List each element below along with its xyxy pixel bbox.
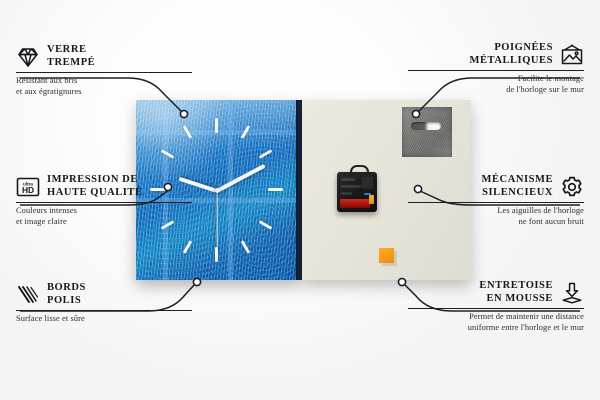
callout-subtitle: Facilite le montage de l'horloge sur le … xyxy=(408,74,584,95)
clock-hub xyxy=(215,188,220,193)
callout-header: POIGNÉES MÉTALLIQUES xyxy=(408,42,584,67)
callout-rule xyxy=(408,308,584,309)
product-infographic: VERRE TREMPÉ Résistant aux bris et aux é… xyxy=(0,0,600,400)
callout-rule xyxy=(16,202,192,203)
foam-spacer-icon xyxy=(560,281,584,305)
gear-icon xyxy=(560,175,584,199)
callout-header: ENTRETOISE EN MOUSSE xyxy=(408,280,584,305)
foam-spacer xyxy=(379,248,394,263)
mechanism-detail xyxy=(341,192,352,195)
battery xyxy=(340,199,370,208)
callout-title: POIGNÉES MÉTALLIQUES xyxy=(470,42,553,67)
quartz-mechanism xyxy=(337,172,377,212)
callout-header: BORDS POLIS xyxy=(16,282,192,307)
polished-edges-icon xyxy=(16,283,40,307)
second-hand xyxy=(216,191,217,247)
battery-terminal xyxy=(369,195,374,204)
svg-text:HD: HD xyxy=(22,185,34,195)
callout-subtitle: Couleurs intenses et image claire xyxy=(16,206,192,227)
callout-mecanisme-silencieux: MÉCANISME SILENCIEUX Les aiguilles de l'… xyxy=(408,174,584,227)
callout-bords-polis: BORDS POLIS Surface lisse et sûre xyxy=(16,282,192,325)
ultra-hd-icon: ultra HD xyxy=(16,175,40,199)
callout-verre-trempe: VERRE TREMPÉ Résistant aux bris et aux é… xyxy=(16,44,192,97)
callout-header: MÉCANISME SILENCIEUX xyxy=(408,174,584,199)
mechanism-detail xyxy=(341,178,355,181)
hour-tick xyxy=(268,188,283,191)
callout-subtitle: Surface lisse et sûre xyxy=(16,314,192,324)
metal-hanger-plate xyxy=(402,107,452,157)
callout-title: BORDS POLIS xyxy=(47,282,86,307)
callout-impression-haute-qualite: ultra HD IMPRESSION DE HAUTE QUALITÉ Cou… xyxy=(16,174,192,227)
callout-title: IMPRESSION DE HAUTE QUALITÉ xyxy=(47,174,143,199)
picture-hanger-icon xyxy=(560,43,584,67)
callout-title: MÉCANISME SILENCIEUX xyxy=(482,174,553,199)
callout-rule xyxy=(16,310,192,311)
callout-subtitle: Les aiguilles de l'horloge ne font aucun… xyxy=(408,206,584,227)
callout-header: VERRE TREMPÉ xyxy=(16,44,192,69)
hour-tick xyxy=(215,118,218,133)
callout-title: ENTRETOISE EN MOUSSE xyxy=(479,280,553,305)
hour-tick xyxy=(215,247,218,262)
callout-subtitle: Résistant aux bris et aux égratignures xyxy=(16,76,192,97)
callout-rule xyxy=(408,70,584,71)
mechanism-detail xyxy=(362,177,373,189)
callout-subtitle: Permet de maintenir une distance uniform… xyxy=(408,312,584,333)
callout-title: VERRE TREMPÉ xyxy=(47,44,95,69)
diamond-icon xyxy=(16,45,40,69)
callout-poignees-metalliques: POIGNÉES MÉTALLIQUES Facilite le montage… xyxy=(408,42,584,95)
callout-entretoise-en-mousse: ENTRETOISE EN MOUSSE Permet de maintenir… xyxy=(408,280,584,333)
hanger-keyhole-slot xyxy=(411,122,441,130)
callout-header: ultra HD IMPRESSION DE HAUTE QUALITÉ xyxy=(16,174,192,199)
mechanism-detail xyxy=(341,185,361,188)
callout-rule xyxy=(16,72,192,73)
callout-rule xyxy=(408,202,584,203)
